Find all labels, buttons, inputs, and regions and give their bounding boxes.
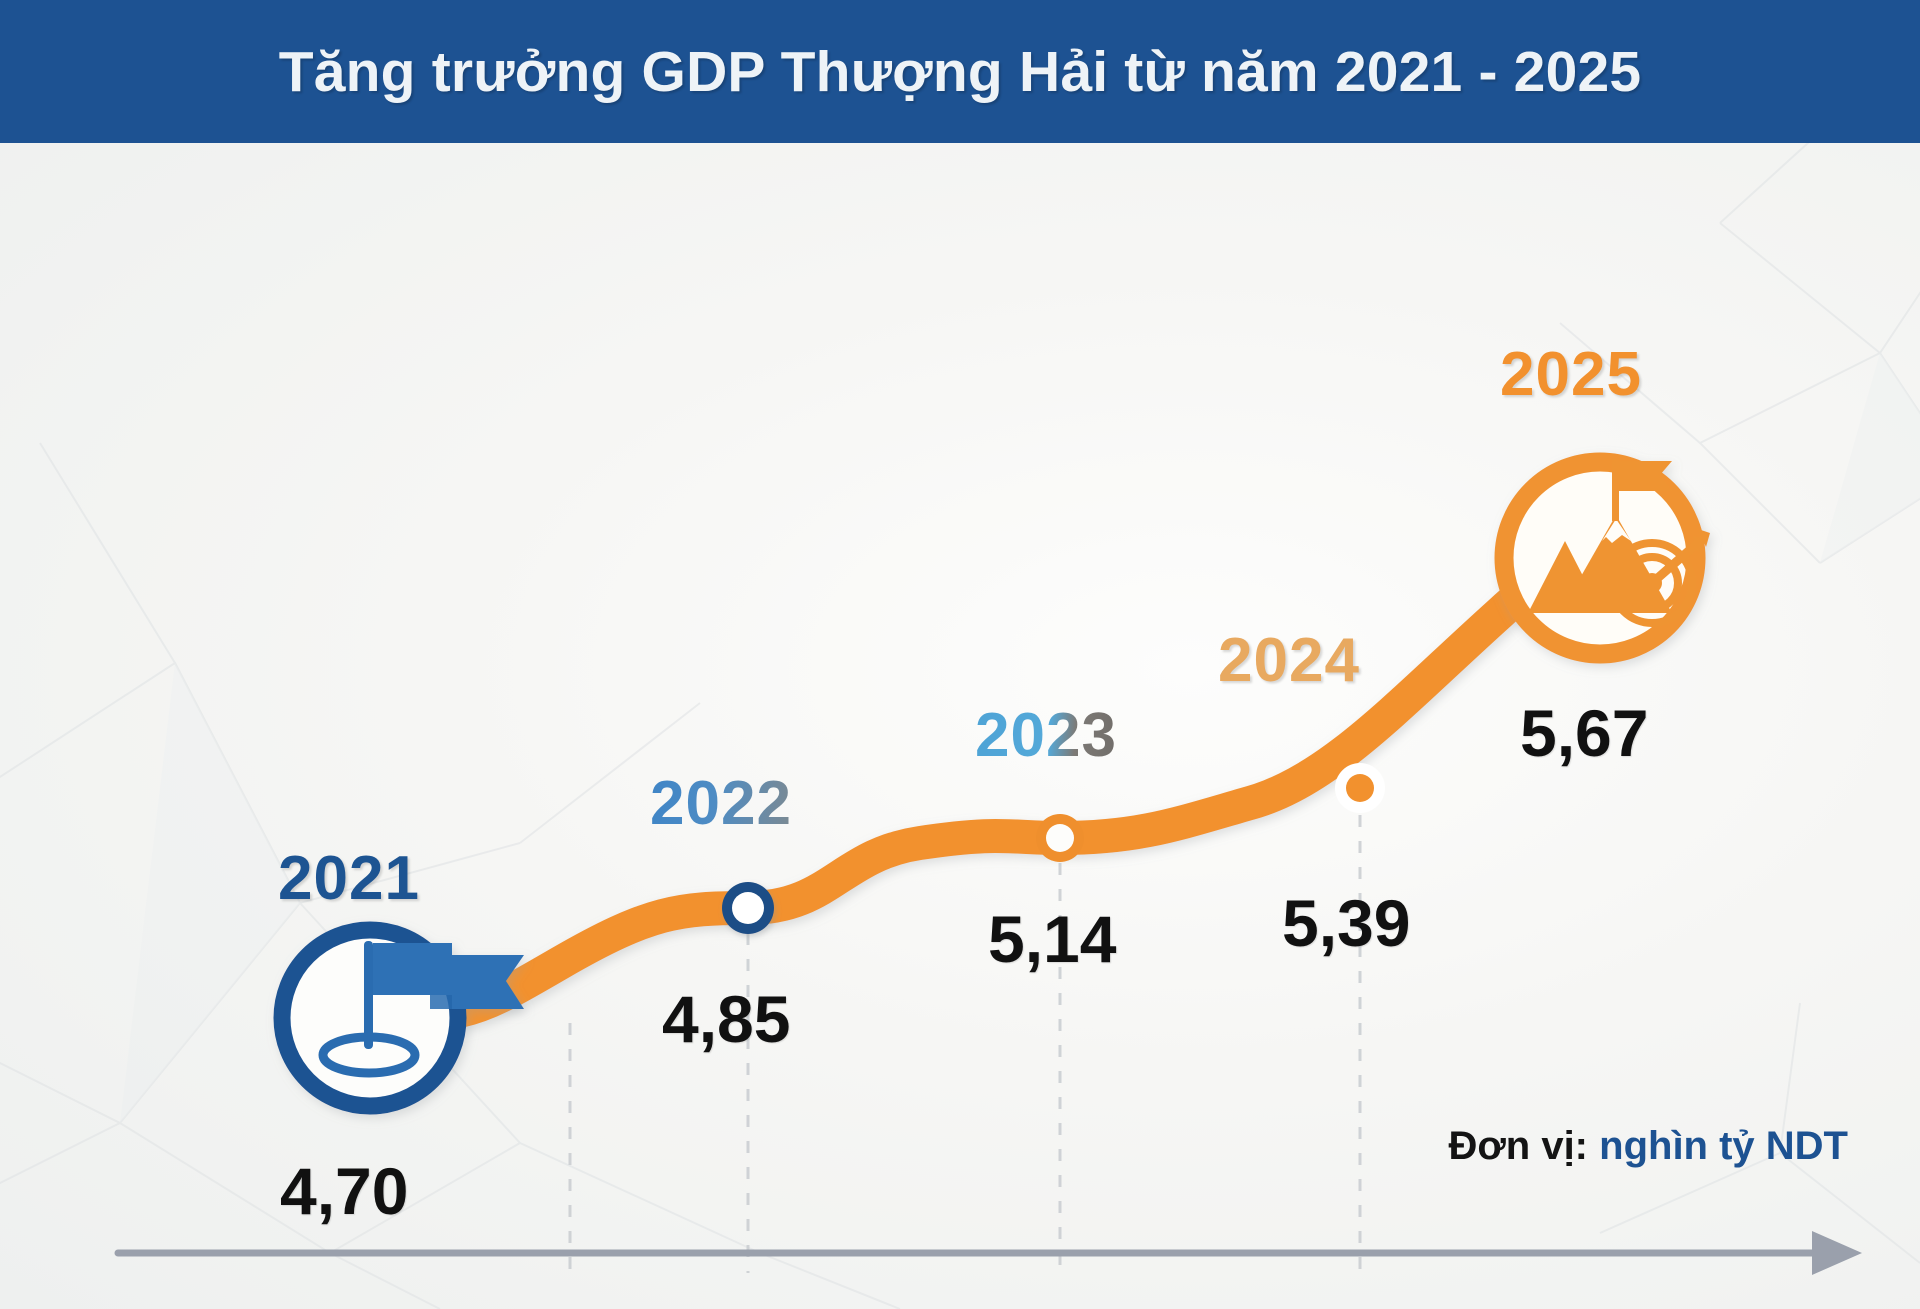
- value-label-2024: 5,39: [1282, 885, 1410, 961]
- value-label-2023: 5,14: [988, 901, 1116, 977]
- node-2025-target-icon: [1504, 459, 1710, 654]
- node-2022-marker: [722, 882, 774, 934]
- year-label-2021: 2021: [278, 843, 420, 914]
- year-label-2023: 2023: [975, 700, 1117, 771]
- unit-caption: Đơn vị: nghìn tỷ NDT: [1448, 1124, 1848, 1169]
- page-title: Tăng trưởng GDP Thượng Hải từ năm 2021 -…: [279, 39, 1642, 105]
- year-label-2024: 2024: [1218, 625, 1360, 696]
- axis-arrow-right-icon: [118, 1231, 1862, 1275]
- infographic-root: Tăng trưởng GDP Thượng Hải từ năm 2021 -…: [0, 0, 1920, 1309]
- value-label-2021: 4,70: [280, 1153, 408, 1229]
- chart-canvas: 2021 2022 2023 2024 2025 4,70 4,85 5,14 …: [0, 143, 1920, 1309]
- title-bar: Tăng trưởng GDP Thượng Hải từ năm 2021 -…: [0, 0, 1920, 143]
- growth-line: [330, 558, 1605, 1018]
- value-label-2022: 4,85: [662, 981, 790, 1057]
- value-label-2025: 5,67: [1520, 695, 1648, 771]
- unit-value: nghìn tỷ NDT: [1599, 1124, 1848, 1168]
- year-label-2025: 2025: [1500, 339, 1642, 410]
- node-2023-marker: [1036, 814, 1084, 862]
- year-label-2022: 2022: [650, 768, 792, 839]
- node-2024-marker: [1335, 763, 1385, 813]
- unit-label: Đơn vị:: [1448, 1124, 1588, 1168]
